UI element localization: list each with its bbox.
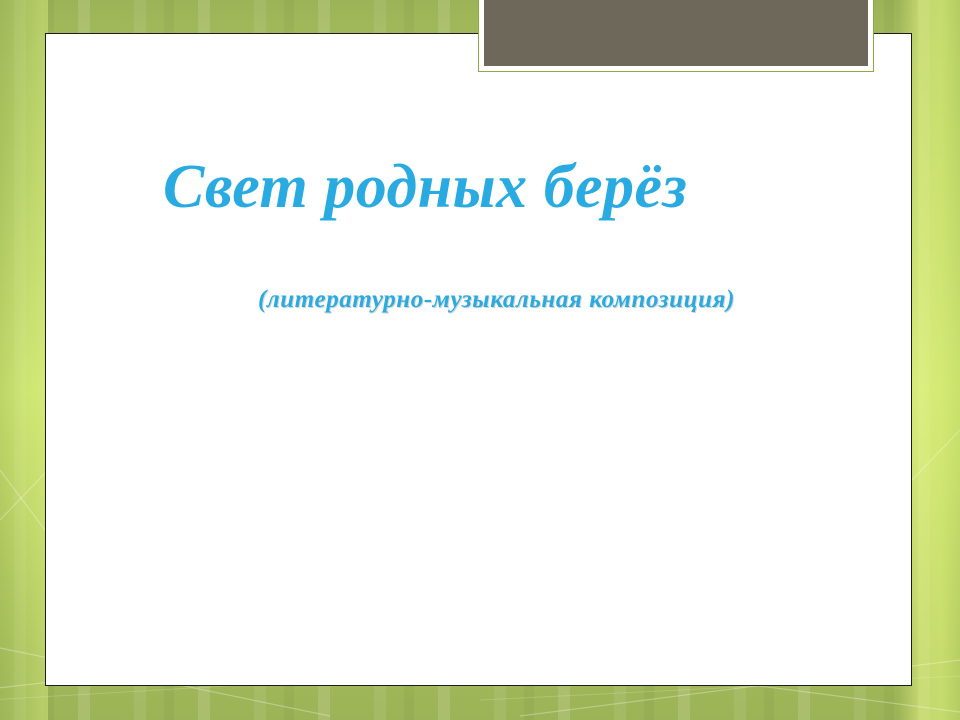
background-left-highlight	[0, 0, 48, 720]
presentation-slide: Свет родных берёз (литературно-музыкальн…	[0, 0, 960, 720]
slide-text-block: Свет родных берёз (литературно-музыкальн…	[45, 33, 912, 686]
slide-title: Свет родных берёз	[115, 143, 852, 231]
slide-subtitle: (литературно-музыкальная композиция)	[115, 285, 852, 315]
